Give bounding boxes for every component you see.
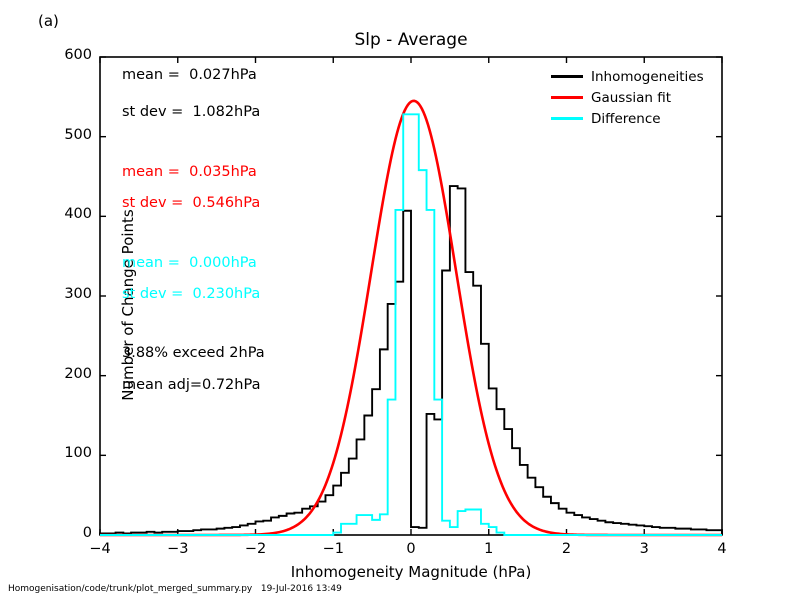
footer-timestamp: 19-Jul-2016 13:49: [261, 584, 342, 594]
legend-item-inhomogeneities[interactable]: Inhomogeneities: [545, 66, 717, 87]
legend-swatch-difference: [551, 117, 583, 120]
annotation-cyan-mean: mean = 0.000hPa: [122, 255, 257, 271]
annotation-red-mean: mean = 0.035hPa: [122, 164, 257, 180]
y-tick-label: 300: [46, 286, 92, 302]
figure-canvas: (a) Slp - Average Number of Change Point…: [0, 0, 800, 600]
y-tick-label: 200: [46, 366, 92, 382]
y-axis-label: Number of Change Points: [119, 65, 137, 545]
y-tick-label: 100: [46, 445, 92, 461]
annotation-red-stdev: st dev = 0.546hPa: [122, 195, 260, 211]
annotation-exceed: 3.88% exceed 2hPa: [122, 345, 265, 361]
legend-label-gaussian-fit: Gaussian fit: [591, 90, 671, 106]
x-tick-label: 3: [624, 541, 664, 557]
legend: Inhomogeneities Gaussian fit Difference: [545, 62, 717, 133]
x-tick-label: 1: [469, 541, 509, 557]
footer-note: Homogenisation/code/trunk/plot_merged_su…: [8, 584, 342, 594]
y-tick-label: 400: [46, 206, 92, 222]
y-tick-label: 0: [46, 525, 92, 541]
legend-swatch-inhomogeneities: [551, 75, 583, 78]
y-tick-label: 500: [46, 127, 92, 143]
legend-label-difference: Difference: [591, 111, 661, 127]
annotation-mean-adj: mean adj=0.72hPa: [122, 377, 260, 393]
footer-script-path: Homogenisation/code/trunk/plot_merged_su…: [8, 584, 252, 594]
x-tick-label: 2: [547, 541, 587, 557]
y-tick-label: 600: [46, 47, 92, 63]
annotation-black-mean: mean = 0.027hPa: [122, 67, 257, 83]
x-tick-label: −2: [236, 541, 276, 557]
x-tick-label: 0: [391, 541, 431, 557]
legend-swatch-gaussian-fit: [551, 96, 583, 99]
legend-label-inhomogeneities: Inhomogeneities: [591, 69, 704, 85]
annotation-black-stdev: st dev = 1.082hPa: [122, 104, 260, 120]
legend-item-difference[interactable]: Difference: [545, 108, 717, 129]
annotation-cyan-stdev: st dev = 0.230hPa: [122, 286, 260, 302]
legend-item-gaussian-fit[interactable]: Gaussian fit: [545, 87, 717, 108]
x-tick-label: 4: [702, 541, 742, 557]
x-tick-label: −4: [80, 541, 120, 557]
x-tick-label: −3: [158, 541, 198, 557]
x-axis-label: Inhomogeneity Magnitude (hPa): [100, 563, 722, 581]
x-tick-label: −1: [313, 541, 353, 557]
